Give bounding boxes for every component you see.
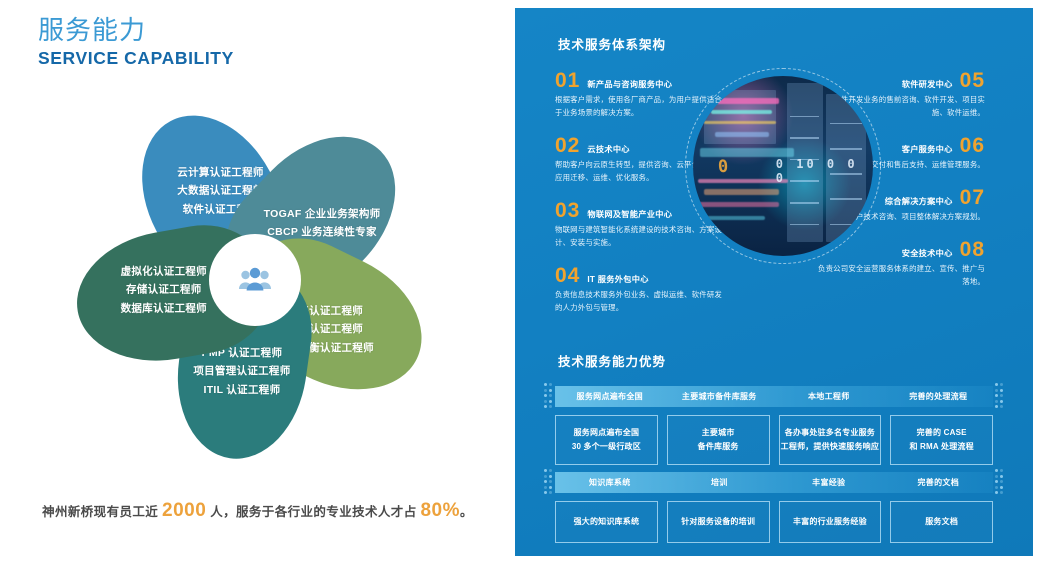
architecture-item-number: 07 [960, 187, 985, 208]
data-center-photo-wrap: 0 0 10 0 0 0 [693, 76, 873, 256]
petal-label: TOGAF 企业业务架构师CBCP 业务连续性专家 [264, 205, 381, 242]
advantages-header-cell: 知识库系统 [555, 477, 665, 488]
advantages-header-cell: 完善的处理流程 [884, 391, 994, 402]
advantages-cell-line: 服务网点遍布全国 [572, 426, 641, 440]
page-title: 服务能力 SERVICE CAPABILITY [38, 16, 234, 69]
advantages-cell[interactable]: 完善的 CASE和 RMA 处理流程 [890, 415, 993, 465]
service-capability-flower-diagram: 云计算认证工程师大数据认证工程师软件认证工程师 TOGAF 企业业务架构师CBC… [30, 85, 480, 475]
advantages-cell-text: 针对服务设备的培训 [681, 515, 755, 529]
advantages-header-bar: 服务网点遍布全国主要城市备件库服务本地工程师完善的处理流程 [555, 386, 993, 407]
architecture-item-number: 06 [960, 135, 985, 156]
petal-line: 数据库认证工程师 [121, 299, 207, 317]
architecture-item-number: 03 [555, 200, 580, 221]
advantages-cell-row: 强大的知识库系统针对服务设备的培训丰富的行业服务经验服务文档 [555, 501, 993, 543]
data-center-photo: 0 0 10 0 0 0 [693, 76, 873, 256]
caption-part-2: 人，服务于各行业的专业技术人才占 [206, 505, 420, 519]
architecture-item-name: 新产品与咨询服务中心 [587, 78, 672, 90]
petal-line: CBCP 业务连续性专家 [264, 223, 381, 241]
advantages-header-cell: 培训 [665, 477, 775, 488]
advantages-header-cell: 服务网点遍布全国 [555, 391, 665, 402]
petal-line: TOGAF 企业业务架构师 [264, 205, 381, 223]
advantages-cell-line: 备件库服务 [698, 440, 739, 454]
left-pane: 服务能力 SERVICE CAPABILITY 云计算认证工程师大数据认证工程师… [0, 0, 515, 576]
architecture-item-name: 综合解决方案中心 [885, 195, 953, 207]
advantages-cell[interactable]: 服务文档 [890, 501, 993, 543]
caption-part-3: 。 [460, 505, 473, 519]
architecture-item-desc: 负责信息技术服务外包业务、虚拟运维、软件研发的人力外包与管理。 [555, 289, 725, 315]
advantages-cell-line: 各办事处驻多名专业服务 [781, 426, 879, 440]
advantages-cell[interactable]: 服务网点遍布全国30 多个一级行政区 [555, 415, 658, 465]
architecture-item-number: 04 [555, 265, 580, 286]
advantages-section-title: 技术服务能力优势 [558, 351, 666, 370]
hub [223, 248, 287, 312]
advantages-cell-line: 针对服务设备的培训 [681, 515, 755, 529]
architecture-item-desc: 负责公司安全运营服务体系的建立、宣传、推广与落地。 [815, 263, 985, 289]
advantages-cell-text: 各办事处驻多名专业服务工程师，提供快速服务响应 [781, 426, 879, 454]
advantages-cell-text: 强大的知识库系统 [574, 515, 640, 529]
title-english: SERVICE CAPABILITY [38, 48, 234, 69]
petal-line: 虚拟化认证工程师 [121, 263, 207, 281]
architecture-item-number: 02 [555, 135, 580, 156]
title-chinese: 服务能力 [38, 16, 234, 46]
advantages-cell-line: 强大的知识库系统 [574, 515, 640, 529]
advantages-cell[interactable]: 强大的知识库系统 [555, 501, 658, 543]
advantages-cell[interactable]: 主要城市备件库服务 [667, 415, 770, 465]
architecture-item-number: 05 [960, 70, 985, 91]
caption-highlight-employees: 2000 [162, 500, 206, 521]
advantages-cell-line: 主要城市 [698, 426, 739, 440]
advantages-table-2: 知识库系统培训丰富经验完善的文档强大的知识库系统针对服务设备的培训丰富的行业服务… [555, 472, 993, 543]
petal-label: 虚拟化认证工程师存储认证工程师数据库认证工程师 [121, 263, 207, 318]
advantages-table-1: 服务网点遍布全国主要城市备件库服务本地工程师完善的处理流程服务网点遍布全国30 … [555, 386, 993, 465]
architecture-item[interactable]: 04IT 服务外包中心负责信息技术服务外包业务、虚拟运维、软件研发的人力外包与管… [555, 265, 725, 315]
advantages-cell-text: 主要城市备件库服务 [698, 426, 739, 454]
petal-line: 云计算认证工程师 [177, 164, 263, 182]
decorative-dots [544, 383, 553, 410]
advantages-cell-line: 30 多个一级行政区 [572, 440, 641, 454]
advantages-header-cell: 完善的文档 [884, 477, 994, 488]
advantages-header-cell: 主要城市备件库服务 [665, 391, 775, 402]
advantages-cell[interactable]: 丰富的行业服务经验 [779, 501, 882, 543]
architecture-section-title: 技术服务体系架构 [558, 34, 666, 53]
decorative-dots [995, 383, 1004, 410]
photo-digit-overlay-2: 0 10 0 0 0 [776, 157, 873, 185]
advantages-cell-text: 丰富的行业服务经验 [793, 515, 867, 529]
slide-root: 服务能力 SERVICE CAPABILITY 云计算认证工程师大数据认证工程师… [0, 0, 1041, 576]
decorative-dots [995, 469, 1004, 496]
architecture-item-head: 04IT 服务外包中心 [555, 265, 725, 286]
architecture-item-number: 08 [960, 239, 985, 260]
architecture-item-name: 物联网及智能产业中心 [587, 208, 672, 220]
advantages-cell-row: 服务网点遍布全国30 多个一级行政区主要城市备件库服务各办事处驻多名专业服务工程… [555, 415, 993, 465]
people-group-icon [238, 267, 272, 293]
decorative-dots [544, 469, 553, 496]
caption-highlight-percent: 80% [420, 500, 460, 521]
advantages-header-cell: 丰富经验 [774, 477, 884, 488]
advantages-cell-text: 服务网点遍布全国30 多个一级行政区 [572, 426, 641, 454]
advantages-cell-line: 和 RMA 处理流程 [909, 440, 973, 454]
architecture-item-name: 安全技术中心 [902, 247, 953, 259]
architecture-item-number: 01 [555, 70, 580, 91]
advantages-cell-line: 丰富的行业服务经验 [793, 515, 867, 529]
advantages-header-cell: 本地工程师 [774, 391, 884, 402]
advantages-cell-line: 工程师，提供快速服务响应 [781, 440, 879, 454]
architecture-item-name: 云技术中心 [587, 143, 629, 155]
advantages-cell-line: 完善的 CASE [909, 426, 973, 440]
petal-line: ITIL 认证工程师 [193, 380, 290, 398]
architecture-item-name: 软件研发中心 [902, 78, 953, 90]
advantages-header-bar: 知识库系统培训丰富经验完善的文档 [555, 472, 993, 493]
advantages-cell[interactable]: 各办事处驻多名专业服务工程师，提供快速服务响应 [779, 415, 882, 465]
photo-digit-overlay: 0 [718, 157, 729, 178]
advantages-cell-line: 服务文档 [925, 515, 958, 529]
advantages-cell[interactable]: 针对服务设备的培训 [667, 501, 770, 543]
architecture-item-name: 客户服务中心 [902, 143, 953, 155]
petal-line: 项目管理认证工程师 [193, 362, 290, 380]
advantages-cell-text: 服务文档 [925, 515, 958, 529]
employee-stat-caption: 神州新桥现有员工近 2000 人，服务于各行业的专业技术人才占 80%。 [0, 500, 515, 522]
petal-line: 存储认证工程师 [121, 281, 207, 299]
caption-part-1: 神州新桥现有员工近 [42, 505, 162, 519]
blue-panel: 技术服务体系架构 01新产品与咨询服务中心根据客户需求，使用各厂商产品，为用户提… [515, 8, 1033, 556]
architecture-item-name: IT 服务外包中心 [587, 273, 648, 285]
advantages-cell-text: 完善的 CASE和 RMA 处理流程 [909, 426, 973, 454]
